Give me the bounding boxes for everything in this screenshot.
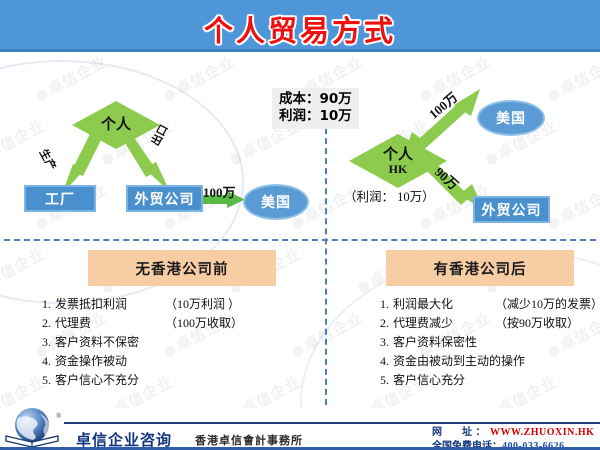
title-bar: 个人贸易方式 <box>0 0 600 52</box>
trade-company-box-right-label: 外贸公司 <box>482 200 542 220</box>
left-person-diamond-text: 个人 <box>101 117 131 133</box>
trade-company-box-left: 外贸公司 <box>126 185 203 212</box>
list-item: 2. 代理费减少 （按90万收取） <box>380 317 598 329</box>
list-item-text: 利润最大化 <box>393 298 489 310</box>
footer-bar: ® 卓信企业咨询 香港卓信會計事務所 网 址 ：WWW.ZHUOXIN.HK 全… <box>0 408 600 450</box>
cost-profit-box: 成本：90万 利润：10万 <box>272 88 359 129</box>
panel-after-hk: 有香港公司后 1. 利润最大化 （减少10万的发票） 2. 代理费减少 （按90… <box>330 250 598 393</box>
list-item: 1. 利润最大化 （减少10万的发票） <box>380 298 598 310</box>
svg-text:®: ® <box>56 412 62 420</box>
list-item: 4. 资金由被动到主动的操作 <box>380 355 598 367</box>
list-item-text: 资金由被动到主动的操作 <box>393 355 525 367</box>
list-item-text: 代理费减少 <box>393 317 489 329</box>
list-item-text: 资金操作被动 <box>55 355 127 367</box>
left-person-label: 个人 <box>101 117 131 133</box>
usa-ellipse-left-label: 美国 <box>261 192 291 212</box>
factory-box: 工厂 <box>24 185 96 212</box>
panel-after-list: 1. 利润最大化 （减少10万的发票） 2. 代理费减少 （按90万收取） 3.… <box>330 298 598 386</box>
list-item-num: 2. <box>380 317 393 329</box>
list-item-note: （100万收取） <box>165 317 243 329</box>
panel-before-title-label: 无香港公司前 <box>136 258 229 279</box>
list-item-text: 客户资料保密性 <box>393 336 477 348</box>
panel-after-title: 有香港公司后 <box>386 250 574 286</box>
list-item-num: 4. <box>380 355 393 367</box>
website-label: 网 址 ： <box>432 426 490 440</box>
profit-label: 利润：10万 <box>279 108 352 125</box>
cost-label: 成本：90万 <box>279 91 352 108</box>
list-item-num: 5. <box>42 374 55 386</box>
factory-box-label: 工厂 <box>45 189 75 209</box>
list-item-text: 客户信心不充分 <box>55 374 139 386</box>
brand-subtitle: 香港卓信會計事務所 <box>195 432 303 448</box>
website-row: 网 址 ：WWW.ZHUOXIN.HK <box>432 426 594 440</box>
list-item-note: （减少10万的发票） <box>495 298 600 310</box>
right-person-hk-diamond: 个人 HK <box>349 134 447 188</box>
trade-company-box-left-label: 外贸公司 <box>135 189 195 209</box>
list-item-num: 2. <box>42 317 55 329</box>
list-item-num: 3. <box>42 336 55 348</box>
list-item-text: 客户信心充分 <box>393 374 465 386</box>
list-item: 5. 客户信心不充分 <box>42 374 300 386</box>
left-person-diamond: 个人 <box>72 101 160 149</box>
list-item-num: 1. <box>42 298 55 310</box>
list-item: 2. 代理费 （100万收取） <box>42 317 300 329</box>
list-item-text: 发票抵扣利润 <box>55 298 159 310</box>
list-item-num: 4. <box>42 355 55 367</box>
list-item: 5. 客户信心充分 <box>380 374 598 386</box>
list-item-num: 1. <box>380 298 393 310</box>
page-title: 个人贸易方式 <box>0 8 600 50</box>
usa-ellipse-right: 美国 <box>477 100 545 136</box>
right-person-hk-text: 个人 HK <box>383 147 413 175</box>
panel-before-title: 无香港公司前 <box>88 250 276 286</box>
panel-before-list: 1. 发票抵扣利润 （10万利润 ） 2. 代理费 （100万收取） 3. 客户… <box>28 298 300 386</box>
list-item: 1. 发票抵扣利润 （10万利润 ） <box>42 298 300 310</box>
panel-after-title-label: 有香港公司后 <box>434 258 527 279</box>
list-item-note: （按90万收取） <box>495 317 579 329</box>
list-item-text: 客户资料不保密 <box>55 336 139 348</box>
panel-before-hk: 无香港公司前 1. 发票抵扣利润 （10万利润 ） 2. 代理费 （100万收取… <box>28 250 300 393</box>
list-item: 3. 客户资料保密性 <box>380 336 598 348</box>
footer-rule <box>64 422 600 424</box>
usa-ellipse-left: 美国 <box>243 184 309 220</box>
list-item: 4. 资金操作被动 <box>42 355 300 367</box>
list-item-num: 5. <box>380 374 393 386</box>
list-item: 3. 客户资料不保密 <box>42 336 300 348</box>
left-amount-label: 100万 <box>203 182 236 201</box>
list-item-num: 3. <box>380 336 393 348</box>
usa-ellipse-right-label: 美国 <box>496 108 526 128</box>
website-value[interactable]: WWW.ZHUOXIN.HK <box>490 427 594 438</box>
right-profit-note: （利润： 10万） <box>344 186 435 205</box>
list-item-text: 代理费 <box>55 317 159 329</box>
slide-canvas: 个人贸易方式 个人 生产 出口 工厂 外贸公司 100万 <box>0 0 600 450</box>
list-item-note: （10万利润 ） <box>165 298 240 310</box>
company-logo-icon: ® <box>2 406 76 450</box>
trade-company-box-right: 外贸公司 <box>473 196 550 223</box>
right-person-label: 个人 <box>383 147 413 163</box>
right-person-hk-label: HK <box>383 163 413 176</box>
